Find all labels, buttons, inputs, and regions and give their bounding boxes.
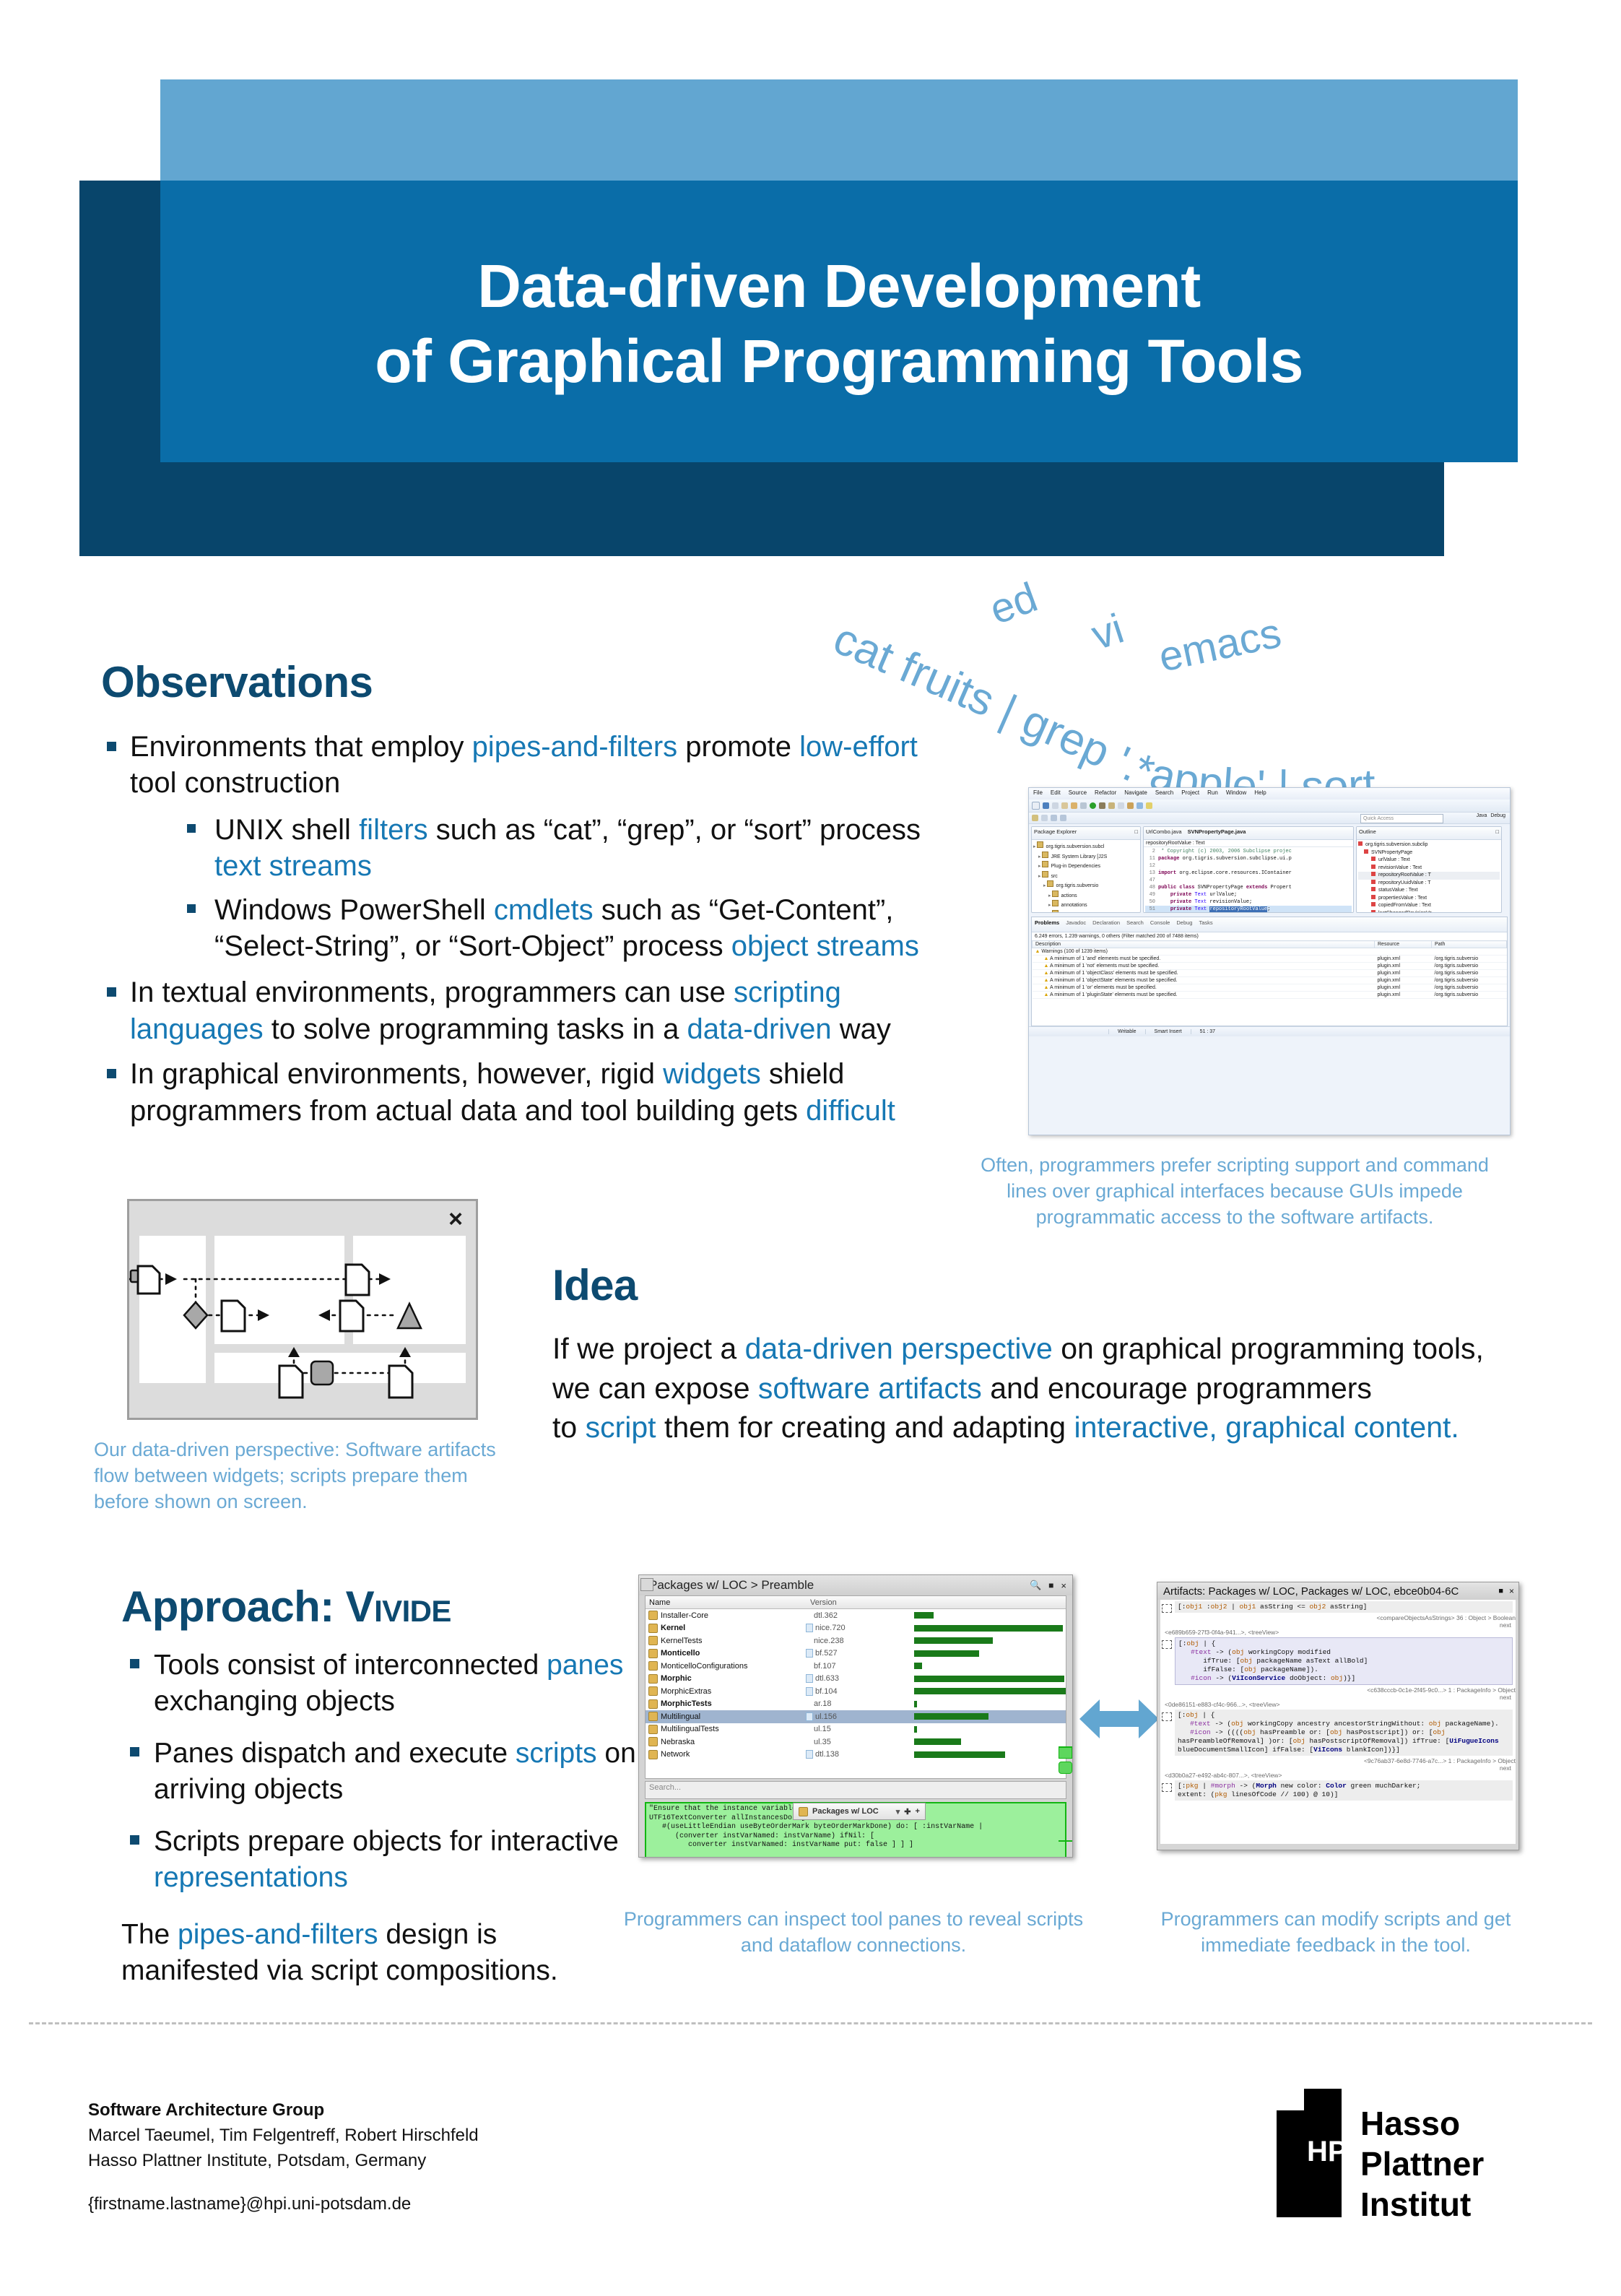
eclipse-caption: Often, programmers prefer scripting supp… [960,1153,1509,1231]
footer-contact: Software Architecture Group Marcel Taeum… [88,2098,955,2217]
approach-title-prefix: Approach: [121,1582,346,1631]
vivide-pane-chip[interactable]: Packages w/ LOC ▾ ✚ + [793,1803,926,1820]
loc-bar [914,1713,988,1720]
problems-view[interactable]: ProblemsJavadocDeclarationSearchConsoleD… [1031,917,1508,1026]
loc-bar [914,1625,1063,1632]
artifacts-script-list[interactable]: [:obj1 :obj2 | obj1 asString <= obj2 asS… [1160,1600,1516,1844]
idea-section: Idea If we project a data-driven perspec… [552,1260,1520,1447]
perspective-debug[interactable]: Debug [1490,813,1505,818]
back-icon[interactable] [1032,815,1038,821]
coverage-icon[interactable] [1108,802,1115,809]
problems-row[interactable]: ▲ A minimum of 1 'and' elements must be … [1033,956,1507,963]
vivide-window-titlebar[interactable]: Packages w/ LOC > Preamble 🔍 ■ × [639,1575,1072,1595]
loc-bar [914,1751,1005,1758]
redo-icon[interactable] [1080,802,1087,809]
artifact-next-link[interactable]: next [1172,1764,1516,1772]
loc-bar [914,1612,934,1619]
problems-tab[interactable]: Debug [1176,919,1192,930]
package-explorer-tree[interactable]: ▸ org.tigris.subversion.subcl▸ JRE Syste… [1032,840,1140,913]
magnifier-icon[interactable]: 🔍 [1030,1580,1041,1591]
package-tree-node[interactable]: ▸ annotations [1033,900,1139,910]
selection-checkbox[interactable] [1162,1604,1172,1613]
code-line[interactable]: 50 private Text revisionValue; [1145,898,1352,906]
eclipse-toolbar[interactable] [1029,800,1510,813]
editor-label-vi: vi [1086,605,1129,659]
chevron-down-icon[interactable]: ▾ [896,1807,900,1816]
selection-checkbox[interactable] [1162,1640,1172,1649]
outline-pane[interactable]: Outline □ org.tigris.subversion.subclipS… [1356,826,1502,913]
prev-edit-icon[interactable] [1051,815,1057,821]
artifact-script-code[interactable]: [:obj | { #text -> (obj workingCopy ance… [1175,1710,1513,1756]
package-icon [648,1725,658,1734]
outline-tree-node[interactable]: SVNPropertyPage [1358,849,1500,857]
problems-row[interactable]: ▲ A minimum of 1 'objectClass' elements … [1033,970,1507,977]
package-row[interactable]: Installer-Coredtl.362 [646,1609,1066,1622]
menu-run[interactable]: Run [1207,789,1218,800]
observation-subitem: UNIX shell filters such as “cat”, “grep”… [184,812,928,885]
package-explorer-header: Package Explorer □ [1032,827,1140,840]
problems-table[interactable]: Description Resource Path ▲ Warnings (10… [1032,940,1507,999]
approach-title-name: Vivide [346,1582,451,1631]
outline-tree-node[interactable]: propertiesValue : Text [1358,895,1500,903]
menu-search[interactable]: Search [1155,789,1173,800]
eclipse-statusbar: Writable Smart Insert 51 : 37 [1029,1026,1510,1036]
chip-label: Packages w/ LOC [812,1807,879,1816]
widgets-dataflow-figure: × [127,1199,478,1420]
problems-tab[interactable]: Declaration [1092,919,1120,930]
vivide-window-title: Packages w/ LOC > Preamble [649,1578,814,1593]
document-icon [806,1687,813,1696]
close-icon[interactable]: × [1061,1580,1066,1591]
package-tree-node[interactable]: ▸ Plug-in Dependencies [1033,861,1139,871]
code-line[interactable]: 49 private Text urlValue; [1145,891,1352,898]
status-insert-mode: Smart Insert [1145,1029,1191,1034]
package-icon [648,1750,658,1759]
approach-section: Approach: Vivide Tools consist of interc… [121,1582,641,1989]
loc-bar [914,1676,1064,1682]
title-line-1: Data-driven Development [477,249,1200,323]
document-icon [806,1624,813,1632]
annotate-icon[interactable] [1146,802,1152,809]
poster-header: Data-driven Development of Graphical Pro… [0,0,1621,571]
status-writable: Writable [1108,1029,1145,1034]
loc-bar [914,1726,917,1733]
footer-email: {firstname.lastname}@hpi.uni-potsdam.de [88,2192,955,2217]
build-icon[interactable] [1061,802,1068,809]
column-version[interactable]: Version [807,1598,918,1607]
artifact-meta-label: <9c76ab37-6e8d-7746-a7c...> 1 : PackageI… [1172,1757,1516,1764]
artifact-entry[interactable]: [:pkg | #morph -> (Morph new color: Colo… [1160,1780,1516,1801]
eclipse-toolbar-secondary[interactable]: Quick Access Java Debug [1029,813,1510,824]
problems-tab[interactable]: Problems [1035,919,1059,930]
eclipse-workbench: Package Explorer □ ▸ org.tigris.subversi… [1029,824,1510,915]
package-row[interactable]: MorphicExtrasbf.104 [646,1685,1066,1698]
eclipse-screenshot[interactable]: File Edit Source Refactor Navigate Searc… [1028,787,1511,1135]
document-icon [806,1674,813,1683]
next-edit-icon[interactable] [1060,815,1066,821]
footer-group: Software Architecture Group [88,2098,955,2123]
artifact-next-link[interactable]: next [1172,1621,1516,1629]
observation-item: In graphical environments, however, rigi… [101,1056,946,1129]
package-row[interactable]: MonticelloConfigurationsbf.107 [646,1660,1066,1673]
problems-tab[interactable]: Javadoc [1066,919,1086,930]
vivide-tool-screenshot[interactable]: Packages w/ LOC > Preamble 🔍 ■ × Name Ve… [638,1574,1073,1858]
package-icon [648,1712,658,1721]
problems-row[interactable]: ▲ A minimum of 1 'pluginState' elements … [1033,992,1507,999]
artifact-script-code[interactable]: [:pkg | #morph -> (Morph new color: Colo… [1175,1780,1513,1801]
observation-subitem: Windows PowerShell cmdlets such as “Get-… [184,892,928,965]
idea-title: Idea [552,1260,1520,1310]
hpi-line-1: Hasso [1360,2105,1460,2142]
outline-tree-node[interactable]: urlValue : Text [1358,857,1500,865]
package-tree-node[interactable]: ▸ authentication [1033,910,1139,914]
tab-svnpropertypage[interactable]: SVNPropertyPage.java [1188,828,1246,838]
outline-close-icon[interactable]: □ [1495,828,1499,838]
loc-bar [914,1637,993,1644]
package-icon [648,1699,658,1709]
package-icon [648,1686,658,1696]
perspective-switcher[interactable]: Java Debug [1477,813,1505,818]
package-row[interactable]: Kernelnice.720 [646,1622,1066,1635]
outline-header: Outline □ [1357,827,1501,840]
problems-table-header: Description Resource Path [1033,941,1507,948]
menu-refactor[interactable]: Refactor [1095,789,1116,800]
problems-view-tabs[interactable]: ProblemsJavadocDeclarationSearchConsoleD… [1032,917,1507,932]
outline-tree[interactable]: org.tigris.subversion.subclipSVNProperty… [1357,840,1501,913]
loc-bar [914,1701,917,1707]
code-line[interactable]: 2 * Copyright (c) 2003, 2006 Subclipse p… [1145,848,1352,855]
problems-row[interactable]: ▲ A minimum of 1 'not' elements must be … [1033,963,1507,970]
debug-icon[interactable] [1099,802,1105,809]
observation-item: Environments that employ pipes-and-filte… [101,729,946,802]
problems-row[interactable]: ▲ A minimum of 1 'or' elements must be s… [1033,984,1507,992]
package-tree-node[interactable]: ▸ org.tigris.subversion.subcl [1033,841,1139,852]
package-icon [648,1624,658,1633]
package-icon [648,1636,658,1645]
artifact-meta-label: <compareObjectsAsStrings> 36 : Object > … [1172,1614,1516,1621]
artifacts-window-title: Artifacts: Packages w/ LOC, Packages w/ … [1163,1585,1459,1598]
widgets-figure-caption: Our data-driven perspective: Software ar… [94,1437,505,1515]
forward-icon[interactable] [1041,815,1048,821]
artifact-entry[interactable]: [:obj | { #text -> (obj workingCopy modi… [1160,1637,1516,1701]
approach-tail-text: The pipes-and-filters design is manifest… [121,1917,641,1989]
quick-access-input[interactable]: Quick Access [1360,814,1443,823]
column-resource[interactable]: Resource [1375,941,1432,948]
problems-row[interactable]: ▲ A minimum of 1 'objectState' elements … [1033,977,1507,984]
menu-help[interactable]: Help [1254,789,1266,800]
menu-file[interactable]: File [1033,789,1043,800]
close-icon[interactable]: × [1509,1586,1514,1596]
obs-1-text: Environments that employ pipes-and-filte… [130,731,918,799]
code-line[interactable]: 51 private Text repositoryRootValue; [1145,906,1352,913]
document-icon [806,1750,813,1759]
package-icon [799,1807,808,1816]
bidirectional-arrow-icon [1079,1694,1159,1744]
vivide-search-input[interactable]: Search... [645,1781,1066,1799]
package-list[interactable]: Name Version Installer-Coredtl.362Kernel… [645,1595,1066,1779]
package-icon [648,1649,658,1658]
idea-text: If we project a data-driven perspective … [552,1329,1520,1447]
wrench-icon[interactable]: ✚ [904,1807,911,1816]
problems-tab[interactable]: Console [1150,919,1170,930]
vivide-screenshot-caption: Programmers can inspect tool panes to re… [622,1907,1085,1959]
approach-item: Scripts prepare objects for interactive … [121,1824,641,1896]
status-cursor-position: 51 : 37 [1191,1029,1224,1034]
collapse-icon[interactable]: ■ [1048,1580,1053,1590]
cylinder-object [131,1270,138,1282]
document-icon [806,1712,813,1721]
artifact-uid-label: <0de86151-e883-cf4c-966...>, <treeView> [1160,1701,1516,1708]
outline-tree-node[interactable]: org.tigris.subversion.subclip [1358,841,1500,849]
rounded-object [311,1361,333,1385]
menu-window[interactable]: Window [1226,789,1246,800]
package-row[interactable]: KernelTestsnice.238 [646,1634,1066,1647]
save-icon[interactable] [1043,802,1049,809]
column-path[interactable]: Path [1432,941,1507,948]
artifact-meta-label: <c638cccb-0c1e-2f45-9c0...> 1 : PackageI… [1172,1686,1516,1694]
artifact-script-code[interactable]: [:obj | { #text -> (obj workingCopy modi… [1175,1637,1513,1685]
problems-summary: 6.249 errors, 1.239 warnings, 0 others (… [1032,932,1507,940]
package-tree-node[interactable]: ▸ JRE System Library [J2S [1033,852,1139,862]
package-row[interactable]: Nebraskaul.35 [646,1736,1066,1749]
title-line-2: of Graphical Programming Tools [375,324,1303,398]
editor-source-code[interactable]: 2 * Copyright (c) 2003, 2006 Subclipse p… [1144,847,1353,913]
collapse-icon[interactable]: ■ [1498,1587,1503,1595]
plus-icon[interactable]: + [915,1807,919,1816]
artifact-uid-label: <d30b0a27-e492-ab4c-807...>, <treeView> [1160,1772,1516,1779]
package-row[interactable]: MorphicTestsar.18 [646,1698,1066,1711]
package-icon [648,1661,658,1671]
package-list-header: Name Version [646,1596,1066,1609]
package-row[interactable]: MultilingualTestsul.15 [646,1723,1066,1736]
package-tree-node[interactable]: ▸ src [1033,871,1139,881]
hpi-line-3: Institut [1360,2185,1471,2223]
code-line[interactable]: 47 [1145,877,1352,884]
page-title: Data-driven Development of Graphical Pro… [160,194,1518,454]
problems-tab[interactable]: Tasks [1199,919,1212,930]
search-icon[interactable] [1118,802,1124,809]
artifact-entry[interactable]: [:obj | { #text -> (obj workingCopy ance… [1160,1710,1516,1772]
observations-section: Observations Environments that employ pi… [101,657,982,1138]
package-explorer-title: Package Explorer [1034,828,1077,838]
hpi-logo: HPI Hasso Plattner Institut [1271,2080,1545,2224]
package-row[interactable]: Multilingualul.156 [646,1710,1066,1723]
problems-group-row[interactable]: ▲ Warnings (100 of 1239 items) [1033,948,1507,956]
package-icon [648,1674,658,1684]
document-icon [806,1649,813,1658]
outline-title: Outline [1359,828,1376,838]
pane-close-icon[interactable]: □ [1134,828,1138,838]
column-name[interactable]: Name [646,1598,807,1607]
menu-project[interactable]: Project [1181,789,1199,800]
package-tree-node[interactable]: ▸ actions [1033,891,1139,901]
package-icon [648,1611,658,1620]
undo-icon[interactable] [1071,802,1077,809]
hpi-abbr: HPI [1307,2136,1355,2167]
package-explorer-pane[interactable]: Package Explorer □ ▸ org.tigris.subversi… [1031,826,1141,913]
approach-item: Tools consist of interconnected panes ex… [121,1647,641,1720]
outline-tree-node[interactable]: lastChangedRevisionVa [1358,910,1500,914]
loc-bar [914,1688,1066,1694]
loc-bar [914,1650,979,1657]
loc-bar [914,1663,922,1669]
editor-pane[interactable]: UrlCombo.java SVNPropertyPage.java repos… [1143,826,1354,913]
perspective-icon[interactable] [1137,802,1143,809]
footer-affiliation: Hasso Plattner Institute, Potsdam, Germa… [88,2149,955,2174]
artifact-next-link[interactable]: next [1172,1694,1516,1701]
observation-item: In textual environments, programmers can… [101,974,946,1047]
column-description[interactable]: Description [1033,941,1375,948]
code-line[interactable]: 48public class SVNPropertyPage extends P… [1145,884,1352,891]
menu-navigate[interactable]: Navigate [1124,789,1147,800]
external-tools-icon[interactable] [1127,802,1134,809]
artifacts-screenshot-caption: Programmers can modify scripts and get i… [1134,1907,1538,1959]
problems-tab[interactable]: Search [1126,919,1144,930]
outline-tree-node[interactable]: repositoryRootValue : T [1358,872,1500,880]
code-line[interactable]: 13import org.eclipse.core.resources.ICon… [1145,870,1352,877]
package-row[interactable]: Morphicdtl.633 [646,1673,1066,1686]
outline-tree-node[interactable]: revisionValue : Text [1358,865,1500,872]
print-icon[interactable] [1052,802,1059,809]
outline-tree-node[interactable]: statusValue : Text [1358,887,1500,895]
approach-title: Approach: Vivide [121,1582,641,1632]
footer-authors: Marcel Taeumel, Tim Felgentreff, Robert … [88,2123,955,2149]
loc-bar [914,1738,961,1745]
code-line[interactable]: 11package org.tigris.subversion.subclips… [1145,855,1352,862]
tab-urlcombo[interactable]: UrlCombo.java [1146,828,1182,838]
package-icon [648,1737,658,1746]
menu-edit[interactable]: Edit [1051,789,1061,800]
artifact-uid-label: <e689b659-27f3-0f4a-941...>, <treeView> [1160,1629,1516,1636]
approach-item: Panes dispatch and execute scripts on ar… [121,1736,641,1808]
hpi-line-2: Plattner [1360,2145,1484,2183]
move-handle-icon[interactable] [640,1578,653,1591]
artifacts-tool-screenshot[interactable]: Artifacts: Packages w/ LOC, Packages w/ … [1157,1582,1519,1850]
artifact-script-code[interactable]: [:obj1 :obj2 | obj1 asString <= obj2 asS… [1175,1601,1513,1613]
outline-tree-node[interactable]: copiedFromValue : Text [1358,902,1500,910]
editor-tabs[interactable]: UrlCombo.java SVNPropertyPage.java [1144,827,1353,840]
observations-title: Observations [101,657,982,707]
menu-source[interactable]: Source [1069,789,1087,800]
run-icon[interactable] [1090,802,1096,809]
outline-tree-node[interactable]: repositoryUuidValue : T [1358,880,1500,888]
dataflow-connection [1059,1746,1073,1842]
artifact-entry[interactable]: [:obj1 :obj2 | obj1 asString <= obj2 asS… [1160,1601,1516,1629]
editor-label-ed: ed [983,573,1043,633]
package-row[interactable]: Networkdtl.138 [646,1749,1066,1762]
new-icon[interactable] [1032,802,1040,810]
artifacts-window-titlebar[interactable]: Artifacts: Packages w/ LOC, Packages w/ … [1157,1582,1518,1600]
perspective-java[interactable]: Java [1477,813,1487,818]
package-tree-node[interactable]: ▸ org.tigris.subversio [1033,880,1139,891]
eclipse-menubar[interactable]: File Edit Source Refactor Navigate Searc… [1029,788,1510,800]
package-row[interactable]: Monticellobf.527 [646,1647,1066,1660]
selection-checkbox[interactable] [1162,1783,1172,1792]
editor-label-emacs: emacs [1155,610,1285,681]
selection-checkbox[interactable] [1162,1712,1172,1721]
code-line[interactable]: 12 [1145,862,1352,870]
editor-breadcrumb[interactable]: repositoryRootValue : Text [1144,840,1353,847]
footer-separator [29,2022,1592,2024]
